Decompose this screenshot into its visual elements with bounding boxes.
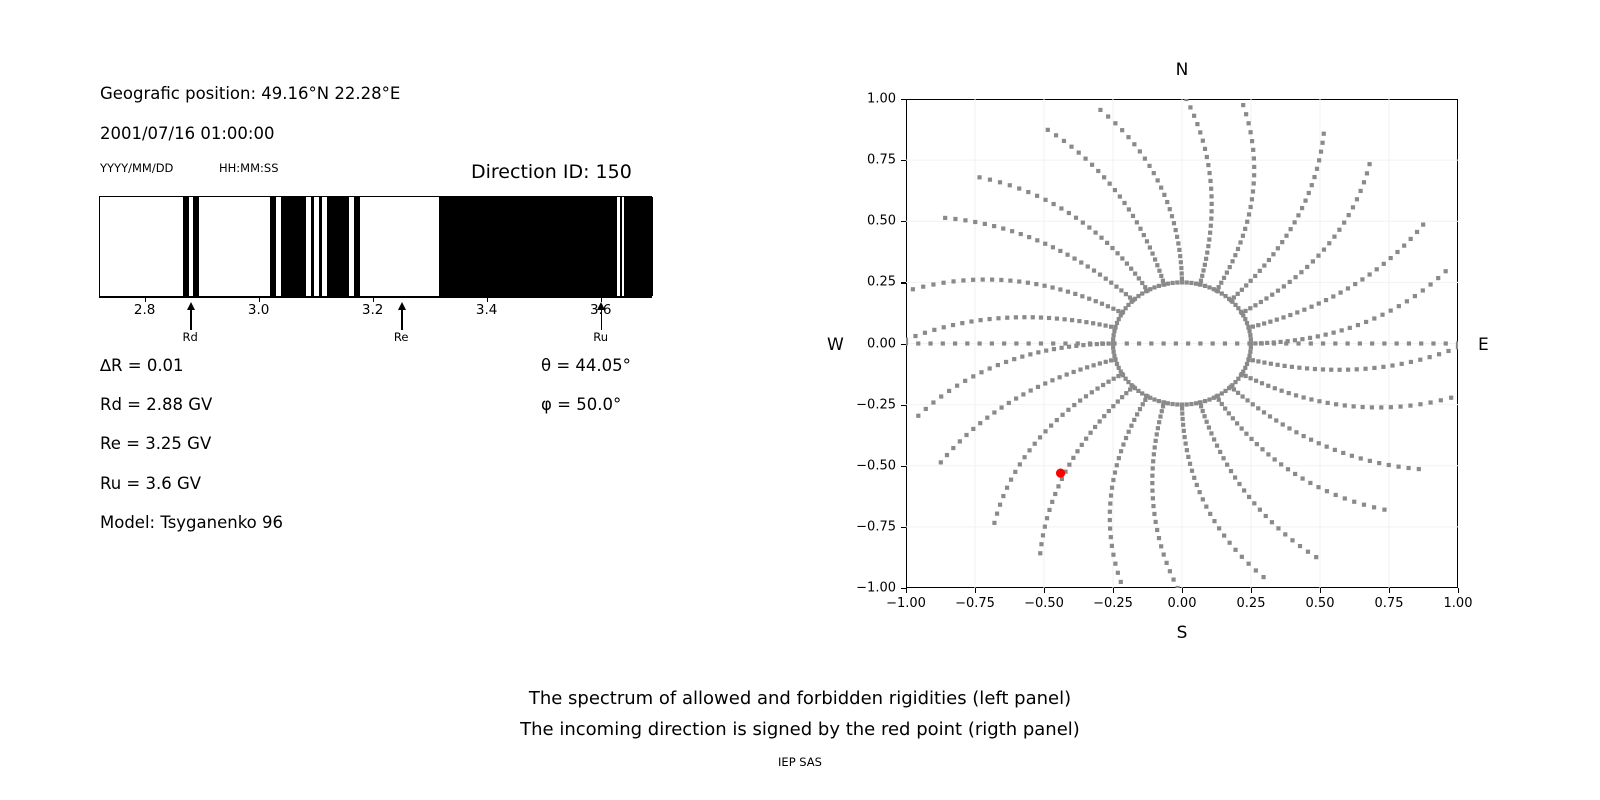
compass-label-west: W — [827, 335, 844, 355]
direction-dot — [1052, 202, 1056, 206]
direction-dot — [1101, 383, 1105, 387]
direction-dot — [1034, 282, 1038, 286]
direction-dot — [1317, 441, 1321, 445]
direction-dot — [1206, 244, 1210, 248]
direction-dot — [1352, 500, 1356, 504]
direction-dot — [1143, 285, 1147, 289]
ring-dot — [1113, 358, 1117, 362]
direction-dot — [1456, 345, 1458, 349]
direction-dot — [1152, 171, 1156, 175]
direction-dot — [1090, 390, 1094, 394]
direction-dot — [1017, 279, 1021, 283]
direction-dot — [1233, 253, 1237, 257]
ring-dot — [1246, 325, 1250, 329]
direction-dot — [1417, 467, 1421, 471]
direction-dot — [1188, 462, 1192, 466]
direction-dot — [1375, 267, 1379, 271]
direction-dot — [977, 175, 981, 179]
ring-dot — [1241, 370, 1245, 374]
direction-dot — [1396, 465, 1400, 469]
direction-dot — [951, 446, 955, 450]
direction-dot — [921, 285, 925, 289]
ring-dot — [1247, 354, 1251, 358]
direction-dot — [1110, 246, 1114, 250]
direction-dot — [1317, 301, 1321, 305]
direction-dot — [931, 400, 935, 404]
direction-dot — [1017, 186, 1021, 190]
direction-dot — [1049, 423, 1053, 427]
direction-dot — [1260, 381, 1264, 385]
direction-dot — [1002, 341, 1006, 345]
direction-dot — [1199, 404, 1203, 408]
compass-label-south: S — [1177, 623, 1188, 643]
ring-dot — [1140, 291, 1144, 295]
direction-dot — [1039, 341, 1043, 345]
direction-dot — [1162, 193, 1166, 197]
direction-dot — [1035, 238, 1039, 242]
direction-dot — [1207, 171, 1211, 175]
direction-dot — [1346, 286, 1350, 290]
direction-dot — [1085, 365, 1089, 369]
direction-dot — [1141, 402, 1145, 406]
direction-dot — [1059, 206, 1063, 210]
direction-dot — [1251, 189, 1255, 193]
direction-dot — [1021, 392, 1025, 396]
direction-dot — [1084, 394, 1088, 398]
ring-dot — [1180, 280, 1184, 284]
direction-dot — [1225, 271, 1229, 275]
arrow-shaft — [190, 308, 191, 330]
direction-dot — [1014, 315, 1018, 319]
direction-dot — [1179, 260, 1183, 264]
direction-dot — [1079, 260, 1083, 264]
param-phi: φ = 50.0° — [541, 395, 621, 414]
direction-dot — [1013, 470, 1017, 474]
direction-dot — [1065, 253, 1069, 257]
direction-dot — [1050, 500, 1054, 504]
direction-dot — [981, 277, 985, 281]
forbidden-band — [620, 197, 622, 296]
direction-dot — [941, 341, 945, 345]
direction-dot — [1062, 139, 1066, 143]
direction-dot — [953, 341, 957, 345]
rigidity-marker-label: Re — [394, 330, 409, 344]
direction-dot — [1154, 439, 1158, 443]
direction-dot — [1027, 341, 1031, 345]
direction-dot — [1332, 235, 1336, 239]
direction-dot — [1087, 297, 1091, 301]
direction-dot — [1320, 141, 1324, 145]
direction-dot — [1102, 175, 1106, 179]
param-theta: θ = 44.05° — [541, 356, 631, 375]
direction-dot — [998, 180, 1002, 184]
direction-dot — [1109, 325, 1113, 329]
direction-dot — [1250, 197, 1254, 201]
direction-dot — [1162, 341, 1166, 345]
direction-dot — [1279, 462, 1283, 466]
direction-dot — [1209, 224, 1213, 228]
direction-dot — [1111, 478, 1115, 482]
direction-dot — [1232, 295, 1236, 299]
direction-dot — [1127, 430, 1131, 434]
direction-dot — [1210, 202, 1214, 206]
y-tick-label: −0.75 — [844, 519, 896, 534]
direction-dot — [978, 341, 982, 345]
direction-dot — [1078, 398, 1082, 402]
direction-dot — [1117, 456, 1121, 460]
direction-dot — [1382, 341, 1386, 345]
direction-dot — [1439, 398, 1443, 402]
direction-dot — [1380, 313, 1384, 317]
direction-dot — [1198, 341, 1202, 345]
direction-dot — [1431, 341, 1435, 345]
direction-dot — [1428, 355, 1432, 359]
x-tick-mark — [1389, 588, 1390, 593]
direction-dot — [1028, 352, 1032, 356]
ring-dot — [1220, 291, 1224, 295]
direction-dot — [1128, 295, 1132, 299]
direction-dot — [1054, 133, 1058, 137]
ring-dot — [1243, 366, 1247, 370]
direction-dot — [1249, 437, 1253, 441]
direction-dot — [942, 325, 946, 329]
ring-dot — [1185, 280, 1189, 284]
direction-dot — [1042, 284, 1046, 288]
ring-dot — [1207, 285, 1211, 289]
direction-dot — [1103, 323, 1107, 327]
ring-dot — [1152, 285, 1156, 289]
direction-dot — [1333, 341, 1337, 345]
direction-dot — [1190, 469, 1194, 473]
direction-dot — [1158, 414, 1162, 418]
direction-dot — [1088, 431, 1092, 435]
direction-dot — [1035, 194, 1039, 198]
ring-dot — [1175, 280, 1179, 284]
direction-dot — [992, 410, 996, 414]
direction-dot — [1204, 505, 1208, 509]
direction-dot — [1151, 504, 1155, 508]
direction-dot — [1286, 467, 1290, 471]
x-tick-mark — [1113, 588, 1114, 593]
direction-dot — [1400, 362, 1404, 366]
direction-dot — [1202, 414, 1206, 418]
direction-dot — [1149, 341, 1153, 345]
direction-dot — [1305, 265, 1309, 269]
direction-dot — [1108, 526, 1112, 530]
ring-dot — [1117, 366, 1121, 370]
ring-dot — [1119, 313, 1123, 317]
direction-dot — [1070, 318, 1074, 322]
direction-dot — [1395, 250, 1399, 254]
direction-dot — [1099, 236, 1103, 240]
direction-dot — [1177, 248, 1181, 252]
direction-dot — [1241, 103, 1245, 107]
direction-dot — [1379, 405, 1383, 409]
direction-dot — [1359, 189, 1363, 193]
direction-dot — [1074, 216, 1078, 220]
direction-dot — [1113, 470, 1117, 474]
direction-dot — [1110, 486, 1114, 490]
direction-dot — [1126, 135, 1130, 139]
ring-dot — [1189, 281, 1193, 285]
direction-dot — [1415, 230, 1419, 234]
direction-dot — [1244, 112, 1248, 116]
direction-dot — [1225, 463, 1229, 467]
direction-dot — [1108, 518, 1112, 522]
direction-dot — [1302, 395, 1306, 399]
direction-dot — [1334, 493, 1338, 497]
direction-dot — [1083, 157, 1087, 161]
direction-dot — [1370, 405, 1374, 409]
direction-dot — [1107, 409, 1111, 413]
direction-dot — [1143, 398, 1147, 402]
direction-dot — [1155, 263, 1159, 267]
direction-dot — [1346, 368, 1350, 372]
direction-dot — [1333, 448, 1337, 452]
direction-dot — [911, 287, 915, 291]
direction-dot — [1109, 281, 1113, 285]
direction-dot — [1317, 399, 1321, 403]
direction-dot — [1247, 212, 1251, 216]
direction-dot — [1094, 299, 1098, 303]
y-tick-label: −1.00 — [844, 581, 896, 596]
direction-dot — [1231, 416, 1235, 420]
direction-dot — [1157, 536, 1161, 540]
direction-dot — [1050, 378, 1054, 382]
direction-dot — [1387, 463, 1391, 467]
direction-dot — [1056, 484, 1060, 488]
direction-dot — [1009, 478, 1013, 482]
direction-dot — [1116, 571, 1120, 575]
ring-dot — [1152, 397, 1156, 401]
direction-dot — [1055, 316, 1059, 320]
direction-dot — [1201, 139, 1205, 143]
direction-dot — [1240, 288, 1244, 292]
direction-dot — [1207, 425, 1211, 429]
direction-dot — [1084, 437, 1088, 441]
forbidden-band — [327, 197, 349, 296]
direction-dot — [1109, 493, 1113, 497]
direction-dot — [1220, 402, 1224, 406]
direction-dot — [1253, 303, 1257, 307]
direction-dot — [1253, 341, 1257, 345]
ring-dot — [1245, 321, 1249, 325]
direction-dot — [1287, 391, 1291, 395]
direction-dot — [1180, 271, 1184, 275]
direction-dot — [1081, 343, 1085, 347]
direction-dot — [1290, 538, 1294, 542]
ring-dot — [1119, 370, 1123, 374]
direction-dot — [1086, 264, 1090, 268]
direction-dot — [1278, 340, 1282, 344]
direction-dot — [951, 279, 955, 283]
direction-dot — [1152, 452, 1156, 456]
direction-dot — [1255, 442, 1259, 446]
direction-dot — [1272, 341, 1276, 345]
ring-dot — [1199, 400, 1203, 404]
direction-dot — [969, 319, 973, 323]
direction-dot — [1128, 387, 1132, 391]
direction-dot — [1315, 167, 1319, 171]
direction-dot — [1119, 288, 1123, 292]
direction-dot — [1204, 257, 1208, 261]
direction-dot — [1343, 496, 1347, 500]
direction-dot — [1238, 240, 1242, 244]
direction-dot — [1229, 469, 1233, 473]
direction-dot — [1446, 349, 1450, 353]
direction-dot — [1355, 197, 1359, 201]
direction-dot — [1043, 381, 1047, 385]
direction-dot — [1252, 501, 1256, 505]
direction-dot — [1161, 404, 1165, 408]
direction-dot — [1382, 508, 1386, 512]
direction-dot — [1280, 240, 1284, 244]
direction-dot — [1377, 461, 1381, 465]
direction-dot — [1027, 448, 1031, 452]
direction-dot — [1051, 245, 1055, 249]
direction-dot — [1283, 364, 1287, 368]
direction-dot — [1254, 568, 1258, 572]
x-tick-mark — [1458, 588, 1459, 593]
direction-dot — [1312, 175, 1316, 179]
direction-dot — [1138, 227, 1142, 231]
ring-dot — [1136, 389, 1140, 393]
direction-dot — [1108, 510, 1112, 514]
ring-dot — [1140, 391, 1144, 395]
direction-dot — [1341, 451, 1345, 455]
direction-dot — [1132, 418, 1136, 422]
direction-dot — [1262, 410, 1266, 414]
direction-dot — [983, 222, 987, 226]
y-tick-mark — [901, 344, 906, 345]
direction-dot — [1240, 555, 1244, 559]
direction-dot — [1299, 270, 1303, 274]
direction-dot — [1288, 280, 1292, 284]
direction-dot — [990, 341, 994, 345]
direction-dot — [1421, 223, 1425, 227]
direction-dot — [1284, 341, 1288, 345]
direction-dot — [1252, 156, 1256, 160]
direction-dot — [1368, 459, 1372, 463]
direction-dot — [1275, 318, 1279, 322]
direction-dot — [1014, 341, 1018, 345]
direction-dot — [1165, 561, 1169, 565]
direction-dot — [1137, 341, 1141, 345]
direction-dot — [1205, 250, 1209, 254]
x-tick-label: −0.75 — [955, 596, 995, 611]
direction-dot — [1266, 384, 1270, 388]
ring-dot — [1117, 317, 1121, 321]
rigidity-tick-label: 3.0 — [248, 302, 269, 318]
ring-dot — [1166, 282, 1170, 286]
forbidden-band — [183, 197, 189, 296]
direction-dot — [1307, 191, 1311, 195]
ring-dot — [1148, 396, 1152, 400]
ring-dot — [1112, 329, 1116, 333]
direction-dot — [1428, 400, 1432, 404]
direction-dot — [1060, 413, 1064, 417]
direction-dot — [1116, 374, 1120, 378]
direction-dot — [1110, 544, 1114, 548]
direction-dot — [1096, 169, 1100, 173]
direction-dot — [1276, 246, 1280, 250]
direction-dot — [1248, 130, 1252, 134]
direction-dot — [1261, 575, 1265, 579]
direction-dot — [1205, 155, 1209, 159]
direction-dot — [1298, 544, 1302, 548]
direction-dot — [1273, 457, 1277, 461]
direction-dot — [1276, 289, 1280, 293]
ring-dot — [1175, 402, 1179, 406]
direction-dot — [916, 414, 920, 418]
direction-dot — [1106, 114, 1110, 118]
direction-dot — [1260, 341, 1264, 345]
direction-dot — [1201, 268, 1205, 272]
direction-dot — [1183, 435, 1187, 439]
y-tick-mark — [901, 282, 906, 283]
direction-dot — [1147, 164, 1151, 168]
y-tick-label: 0.75 — [844, 153, 896, 168]
direction-dot — [1200, 274, 1204, 278]
forbidden-band — [439, 197, 617, 296]
direction-dot — [1195, 483, 1199, 487]
ring-dot — [1243, 317, 1247, 321]
ring-dot — [1207, 397, 1211, 401]
footer-label: IEP SAS — [0, 755, 1600, 769]
rigidity-spectrum-bar — [99, 196, 652, 297]
direction-dot — [1273, 386, 1277, 390]
forbidden-band — [193, 197, 199, 296]
direction-dot — [1153, 445, 1157, 449]
geographic-position-label: Geografic position: 49.16°N 22.28°E — [100, 84, 400, 103]
direction-dot — [1044, 349, 1048, 353]
direction-dot — [1124, 292, 1128, 296]
direction-dot — [1020, 354, 1024, 358]
direction-dot — [1087, 225, 1091, 229]
direction-dot — [1205, 420, 1209, 424]
date-format-hint: YYYY/MM/DD — [100, 161, 173, 175]
direction-dot — [1192, 114, 1196, 118]
direction-dot — [1039, 315, 1043, 319]
direction-dot — [1211, 341, 1215, 345]
direction-dot — [1246, 121, 1250, 125]
y-tick-mark — [901, 99, 906, 100]
direction-dot — [1047, 316, 1051, 320]
ring-dot — [1199, 283, 1203, 287]
ring-dot — [1157, 284, 1161, 288]
direction-dot — [1300, 206, 1304, 210]
direction-dot — [964, 433, 968, 437]
rigidity-tick-label: 2.8 — [134, 302, 155, 318]
y-tick-label: 1.00 — [844, 92, 896, 107]
direction-dot — [1058, 249, 1062, 253]
direction-dot — [1322, 248, 1326, 252]
direction-dot — [1247, 495, 1251, 499]
direction-dot — [1421, 288, 1425, 292]
direction-dot — [1067, 463, 1071, 467]
direction-dot — [1264, 514, 1268, 518]
direction-dot — [1449, 396, 1453, 400]
direction-dot — [1058, 375, 1062, 379]
direction-dot — [1389, 309, 1393, 313]
direction-dot — [1195, 122, 1199, 126]
direction-dot — [1275, 363, 1279, 367]
direction-dot — [1073, 292, 1077, 296]
ring-dot — [1161, 283, 1165, 287]
ring-dot — [1115, 362, 1119, 366]
direction-dot — [1188, 105, 1192, 109]
ring-dot — [1203, 399, 1207, 403]
